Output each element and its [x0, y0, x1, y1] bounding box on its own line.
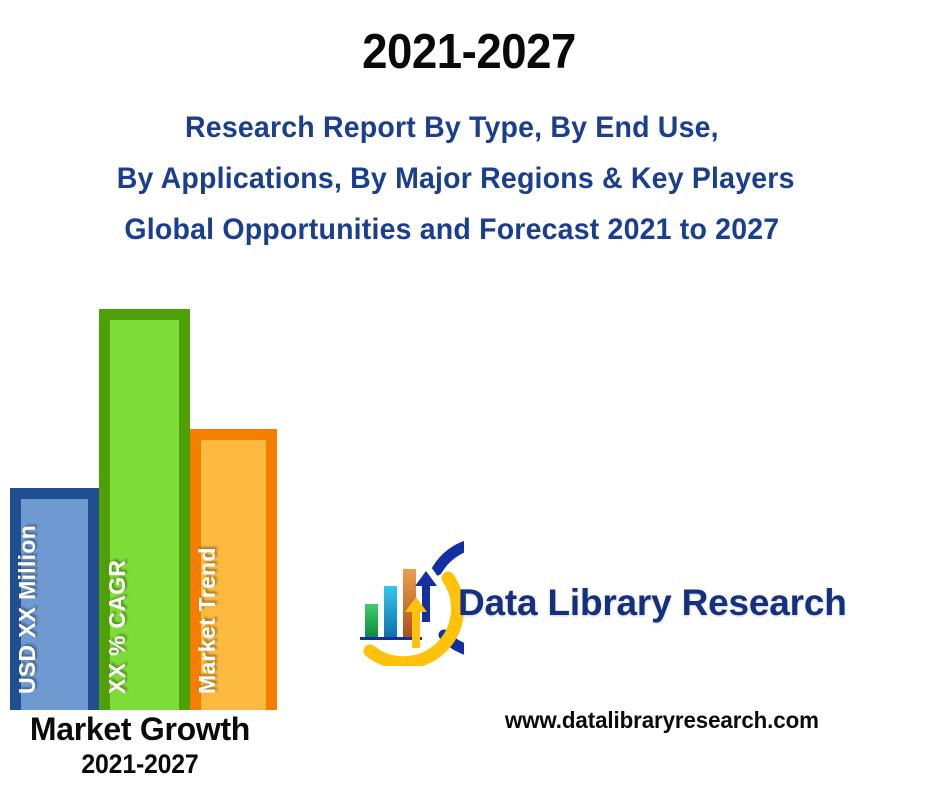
page-title: 2021-2027	[33, 28, 905, 77]
data-library-research-logo-icon	[336, 538, 464, 666]
logo-bar-green	[365, 604, 378, 637]
chart-caption-years: 2021-2027	[11, 748, 269, 780]
subtitle-line-2: By Applications, By Major Regions & Key …	[23, 153, 914, 204]
bar-cagr-fill	[110, 320, 179, 710]
bar-cagr: XX % CAGR	[99, 309, 190, 710]
chart-caption: Market Growth 2021-2027	[0, 710, 280, 780]
chart-caption-title: Market Growth	[0, 710, 280, 748]
bar-market-trend-fill	[201, 440, 266, 710]
subtitle-line-3: Global Opportunities and Forecast 2021 t…	[23, 204, 914, 255]
bar-usd-million: USD XX Million	[10, 488, 99, 710]
logo-wordmark-text: Data Library Research	[458, 582, 847, 624]
logo-bar-cyan	[384, 586, 397, 637]
bar-market-trend: Market Trend	[190, 429, 277, 710]
market-growth-bar-chart: USD XX Million XX % CAGR Market Trend	[0, 290, 300, 710]
website-url[interactable]: www.datalibraryresearch.com	[505, 707, 819, 734]
brand-logo: Data Library Research	[336, 538, 866, 670]
logo-svg	[336, 538, 464, 666]
subtitle-line-1: Research Report By Type, By End Use,	[23, 102, 914, 153]
bar-usd-million-fill	[21, 499, 88, 710]
report-subtitle-block: Research Report By Type, By End Use, By …	[0, 102, 938, 255]
